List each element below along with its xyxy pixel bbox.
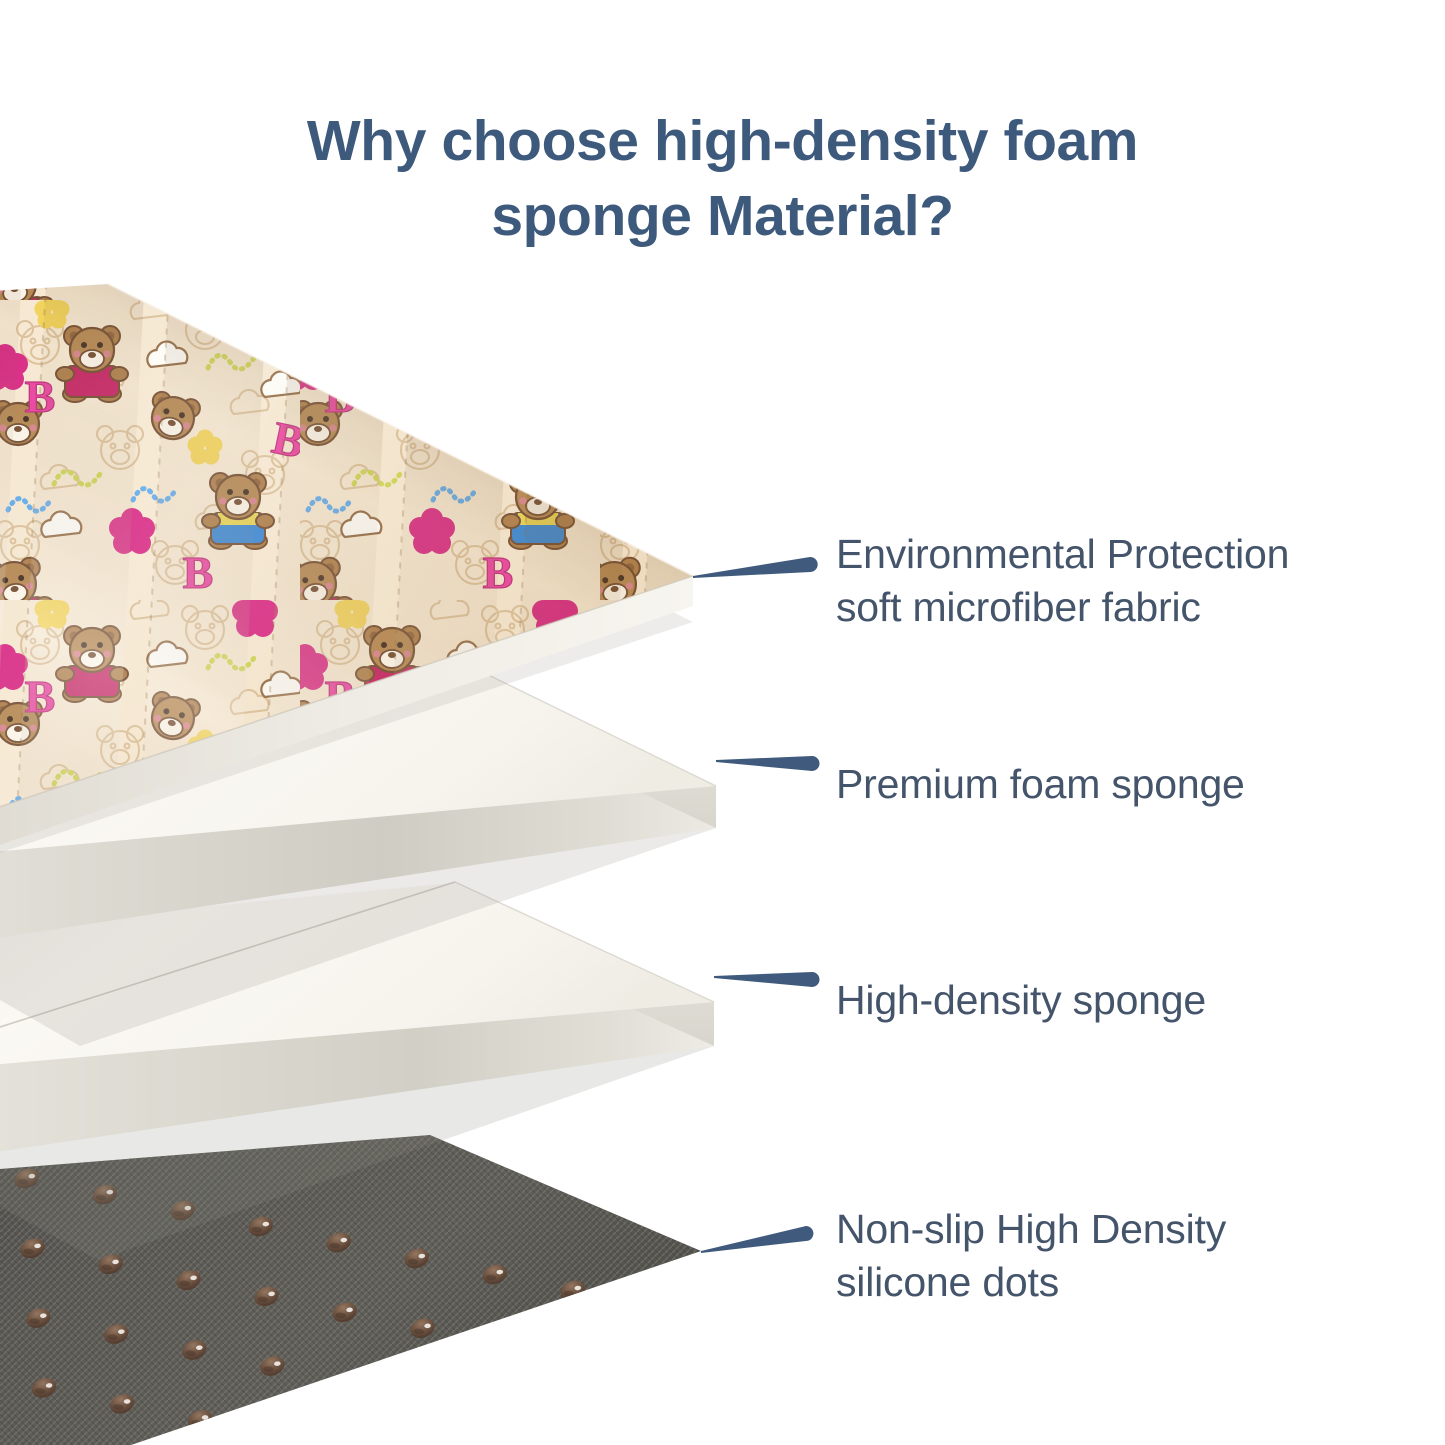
page-title: Why choose high-density foam sponge Mate… (0, 104, 1445, 254)
callout-label-high-density-foam: High-density sponge (836, 974, 1206, 1027)
pointer-premium-foam (716, 756, 820, 771)
callout-label-silicone-dots: Non-slip High Density silicone dots (836, 1203, 1226, 1310)
pointer-high-density-foam (714, 972, 820, 987)
callout-label-microfiber-fabric: Environmental Protection soft microfiber… (836, 528, 1289, 635)
pointer-fabric (693, 557, 818, 578)
pointer-silicone (701, 1226, 813, 1253)
infographic-canvas: B (0, 0, 1445, 1445)
callout-pointers (693, 557, 820, 1253)
callout-label-premium-foam: Premium foam sponge (836, 758, 1245, 811)
